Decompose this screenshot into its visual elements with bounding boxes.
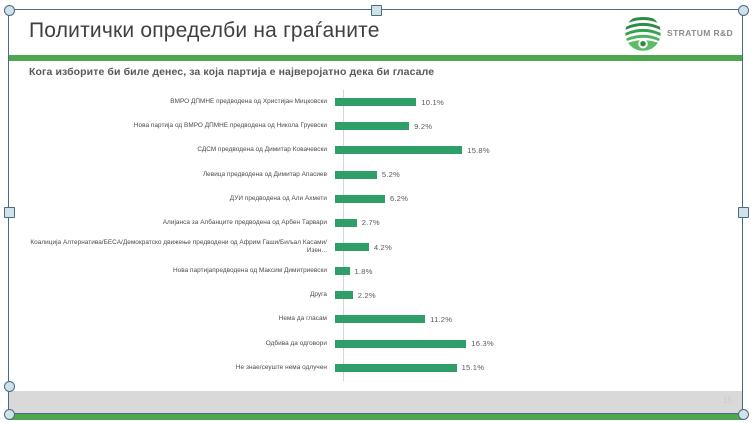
- resize-handle-middle-left[interactable]: [4, 207, 15, 218]
- category-label: Не знае/сеуште нема одлучен: [29, 364, 335, 372]
- bar-value-label: 9.2%: [414, 122, 432, 131]
- bar-zone: 10.1%: [335, 90, 729, 114]
- bar[interactable]: [335, 340, 466, 348]
- bar-zone: 2.2%: [335, 283, 729, 307]
- category-label: Алијанса за Албанците предводена од Арбе…: [29, 219, 335, 227]
- resize-handle-top-right[interactable]: [738, 5, 749, 16]
- chart-question-subtitle: Кога изборите би биле денес, за која пар…: [29, 66, 719, 78]
- category-label: ДУИ предводена од Али Ахмети: [29, 195, 335, 203]
- bar[interactable]: [335, 267, 350, 275]
- resize-handle-bottom-left[interactable]: [4, 381, 15, 392]
- bar-value-label: 6.2%: [390, 194, 408, 203]
- powerpoint-slide-editor: Политички определби на граѓаните: [0, 0, 751, 423]
- bar[interactable]: [335, 291, 353, 299]
- bar-zone: 16.3%: [335, 332, 729, 356]
- bar[interactable]: [335, 364, 457, 372]
- eye-logo-icon: [624, 14, 662, 52]
- resize-handle-lower-left[interactable]: [4, 409, 15, 420]
- resize-handle-top-center[interactable]: [371, 5, 382, 16]
- bar[interactable]: [335, 243, 369, 251]
- bar-value-label: 2.2%: [358, 291, 376, 300]
- bar-zone: 11.2%: [335, 307, 729, 331]
- bar-zone: 6.2%: [335, 187, 729, 211]
- bar-zone: 4.2%: [335, 235, 729, 259]
- chart-row: СДСМ предводена од Димитар Ковачевски15.…: [29, 138, 729, 162]
- category-label: Левица предводена од Димитар Апасиев: [29, 171, 335, 179]
- page-number: 15: [723, 396, 732, 405]
- chart-plot-area: ВМРО ДПМНЕ предводена од Христијан Мицко…: [29, 90, 729, 380]
- bar-value-label: 11.2%: [430, 315, 452, 324]
- bar-value-label: 15.1%: [462, 363, 485, 372]
- title-underline-rule: [9, 55, 742, 61]
- bar[interactable]: [335, 122, 409, 130]
- chart-row: Друга2.2%: [29, 283, 729, 307]
- resize-handle-middle-right[interactable]: [738, 207, 749, 218]
- logo-label: STRATUM R&D: [667, 28, 733, 38]
- bar[interactable]: [335, 146, 462, 154]
- chart-row: ВМРО ДПМНЕ предводена од Христијан Мицко…: [29, 90, 729, 114]
- slide-footer-band: [9, 391, 742, 413]
- bar-value-label: 15.8%: [467, 146, 490, 155]
- category-label: Коалиција Алтернатива/БЕСА/Демократско д…: [29, 239, 335, 255]
- chart-row: Коалиција Алтернатива/БЕСА/Демократско д…: [29, 235, 729, 259]
- bar-zone: 1.8%: [335, 259, 729, 283]
- page-title: Политички определби на граѓаните: [29, 19, 380, 43]
- resize-handle-top-left[interactable]: [4, 5, 15, 16]
- bar-value-label: 1.8%: [355, 267, 373, 276]
- chart-row: ДУИ предводена од Али Ахмети6.2%: [29, 187, 729, 211]
- bar-value-label: 5.2%: [382, 170, 400, 179]
- bar-zone: 15.8%: [335, 138, 729, 162]
- chart-row: Нема да гласам11.2%: [29, 307, 729, 331]
- bar-zone: 5.2%: [335, 162, 729, 186]
- bar-chart[interactable]: ВМРО ДПМНЕ предводена од Христијан Мицко…: [29, 90, 729, 390]
- category-label: Нова партијапредводена од Максим Димитри…: [29, 267, 335, 275]
- bar-zone: 2.7%: [335, 211, 729, 235]
- bar[interactable]: [335, 171, 377, 179]
- chart-row: Одбива да одговори16.3%: [29, 332, 729, 356]
- resize-handle-bottom-right[interactable]: [738, 409, 749, 420]
- bar[interactable]: [335, 315, 425, 323]
- category-label: Нова партија од ВМРО ДПМНЕ предводена од…: [29, 122, 335, 130]
- slide-canvas[interactable]: Политички определби на граѓаните: [9, 10, 742, 413]
- bottom-accent-bar: [8, 414, 743, 420]
- bar-value-label: 16.3%: [471, 339, 494, 348]
- category-label: СДСМ предводена од Димитар Ковачевски: [29, 146, 335, 154]
- bar[interactable]: [335, 219, 357, 227]
- bar-zone: 9.2%: [335, 114, 729, 138]
- category-label: Одбива да одговори: [29, 340, 335, 348]
- chart-row: Не знае/сеуште нема одлучен15.1%: [29, 356, 729, 380]
- chart-row: Левица предводена од Димитар Апасиев5.2%: [29, 162, 729, 186]
- chart-row: Алијанса за Албанците предводена од Арбе…: [29, 211, 729, 235]
- category-label: Друга: [29, 291, 335, 299]
- bar[interactable]: [335, 195, 385, 203]
- category-label: ВМРО ДПМНЕ предводена од Христијан Мицко…: [29, 98, 335, 106]
- stratum-rd-logo: STRATUM R&D: [624, 13, 736, 53]
- chart-row: Нова партија од ВМРО ДПМНЕ предводена од…: [29, 114, 729, 138]
- bar-value-label: 4.2%: [374, 243, 392, 252]
- category-label: Нема да гласам: [29, 315, 335, 323]
- bar-value-label: 10.1%: [421, 98, 444, 107]
- bar-value-label: 2.7%: [362, 218, 380, 227]
- bar[interactable]: [335, 98, 416, 106]
- chart-row: Нова партијапредводена од Максим Димитри…: [29, 259, 729, 283]
- bar-zone: 15.1%: [335, 356, 729, 380]
- slide-title-area[interactable]: Политички определби на граѓаните: [9, 10, 742, 55]
